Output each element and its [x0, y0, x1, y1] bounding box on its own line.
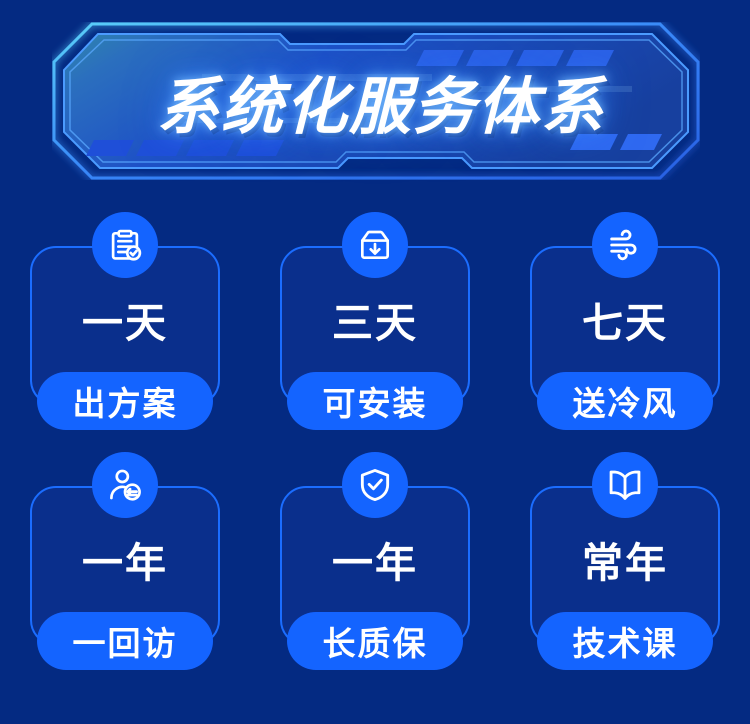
service-cards-grid: 一天 出方案 三天 可安装	[0, 196, 750, 676]
service-card[interactable]: 一年 长质保	[280, 486, 470, 646]
service-card[interactable]: 三天 可安装	[280, 246, 470, 406]
clipboard-check-icon	[92, 212, 158, 278]
page-title: 系统化服务体系	[52, 22, 700, 180]
card-pill-label[interactable]: 出方案	[37, 372, 213, 430]
wind-icon	[592, 212, 658, 278]
service-card[interactable]: 一年 一回访	[30, 486, 220, 646]
shield-check-icon	[342, 452, 408, 518]
card-pill-label[interactable]: 长质保	[287, 612, 463, 670]
open-book-icon	[592, 452, 658, 518]
card-pill-label[interactable]: 技术课	[537, 612, 713, 670]
person-exchange-icon	[92, 452, 158, 518]
card-pill-label[interactable]: 一回访	[37, 612, 213, 670]
card-pill-label[interactable]: 送冷风	[537, 372, 713, 430]
box-download-icon	[342, 212, 408, 278]
title-banner: 系统化服务体系	[52, 22, 700, 180]
service-card[interactable]: 常年 技术课	[530, 486, 720, 646]
card-pill-label[interactable]: 可安装	[287, 372, 463, 430]
service-card[interactable]: 一天 出方案	[30, 246, 220, 406]
service-card[interactable]: 七天 送冷风	[530, 246, 720, 406]
